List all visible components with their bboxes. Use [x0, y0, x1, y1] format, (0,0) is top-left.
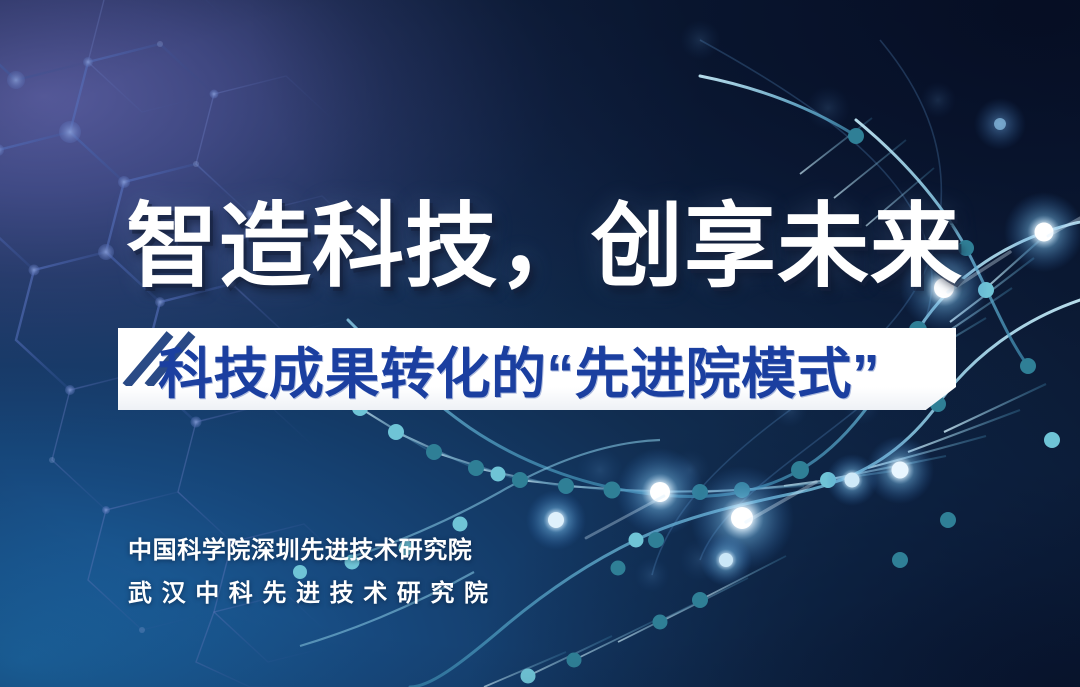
page-title: 智造科技，创享未来: [126, 198, 966, 297]
poster-banner: 智造科技，创享未来 科技成果转化的“先进院模式” 中国科学院深圳先进技术研究院 …: [0, 0, 1080, 687]
organization-block: 中国科学院深圳先进技术研究院 武汉中科先进技术研究院: [128, 536, 498, 609]
organization-line-2: 武汉中科先进技术研究院: [128, 579, 498, 608]
subtitle: 科技成果转化的“先进院模式”: [158, 330, 880, 408]
organization-line-1: 中国科学院深圳先进技术研究院: [128, 536, 498, 565]
